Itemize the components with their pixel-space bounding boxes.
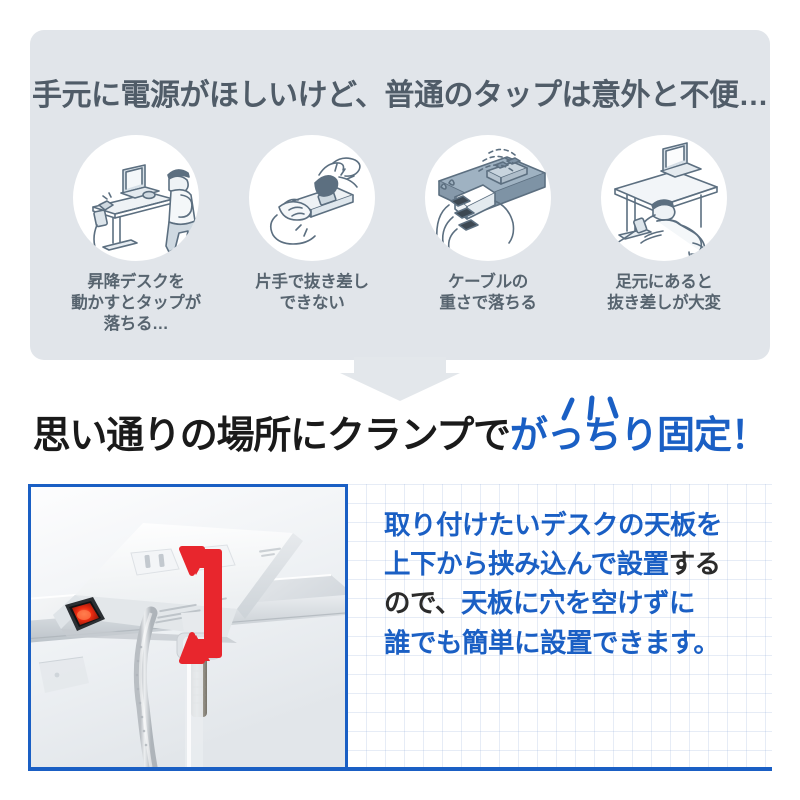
emphasis-marks-icon (552, 392, 642, 426)
problem-caption-3: ケーブルの 重さで落ちる (439, 272, 536, 314)
problem-panel: 手元に電源がほしいけど、普通のタップは意外と不便… (30, 30, 770, 360)
tagline-black-part: 思い通りの場所にクランプで (33, 415, 510, 457)
clamp-power-strip-photo (28, 484, 348, 770)
caption-line: 動かすとタップが (71, 294, 201, 312)
down-arrow (340, 357, 460, 401)
problem-item-1: 昇降デスクを 動かすとタップが 落ちる… (52, 135, 220, 335)
problem-item-3: ケーブルの 重さで落ちる (404, 135, 572, 335)
problem-icon-row: 昇降デスクを 動かすとタップが 落ちる… (52, 135, 748, 335)
section-bottom-rule (28, 767, 772, 771)
caption-line: 昇降デスクを (87, 273, 184, 291)
main-tagline: 思い通りの場所にクランプでがっちり固定！ (0, 404, 800, 459)
body-copy-line-4: 誰でも簡単に設置できます。 (384, 624, 774, 663)
under-desk-reach-icon (601, 135, 727, 261)
standing-desk-tap-falling-icon (73, 135, 199, 261)
body-copy-line-1: 取り付けたいデスクの天板を (384, 506, 774, 545)
caption-line: 片手で抜き差し (255, 273, 368, 291)
caption-line: 落ちる… (104, 315, 169, 333)
caption-line: 重さで落ちる (439, 294, 536, 312)
body-copy-line-3: ので、天板に穴を空けずに (384, 584, 774, 623)
body-copy-line-2: 上下から挟み込んで設置する (384, 545, 774, 584)
body-copy: 取り付けたいデスクの天板を 上下から挟み込んで設置する ので、天板に穴を空けずに… (384, 506, 774, 663)
caption-line: 抜き差しが大変 (607, 294, 720, 312)
caption-line: 足元にあると (615, 273, 712, 291)
problem-item-2: 片手で抜き差し できない (228, 135, 396, 335)
cable-weight-falling-icon (425, 135, 551, 261)
problem-caption-2: 片手で抜き差し できない (255, 272, 368, 314)
caption-line: できない (280, 294, 345, 312)
one-hand-plug-icon (249, 135, 375, 261)
problem-item-4: 足元にあると 抜き差しが大変 (580, 135, 748, 335)
caption-line: ケーブルの (448, 273, 528, 291)
bottom-section: 取り付けたいデスクの天板を 上下から挟み込んで設置する ので、天板に穴を空けずに… (28, 484, 772, 776)
problem-headline: 手元に電源がほしいけど、普通のタップは意外と不便… (30, 70, 770, 114)
problem-caption-4: 足元にあると 抜き差しが大変 (607, 272, 720, 314)
problem-caption-1: 昇降デスクを 動かすとタップが 落ちる… (71, 272, 201, 335)
